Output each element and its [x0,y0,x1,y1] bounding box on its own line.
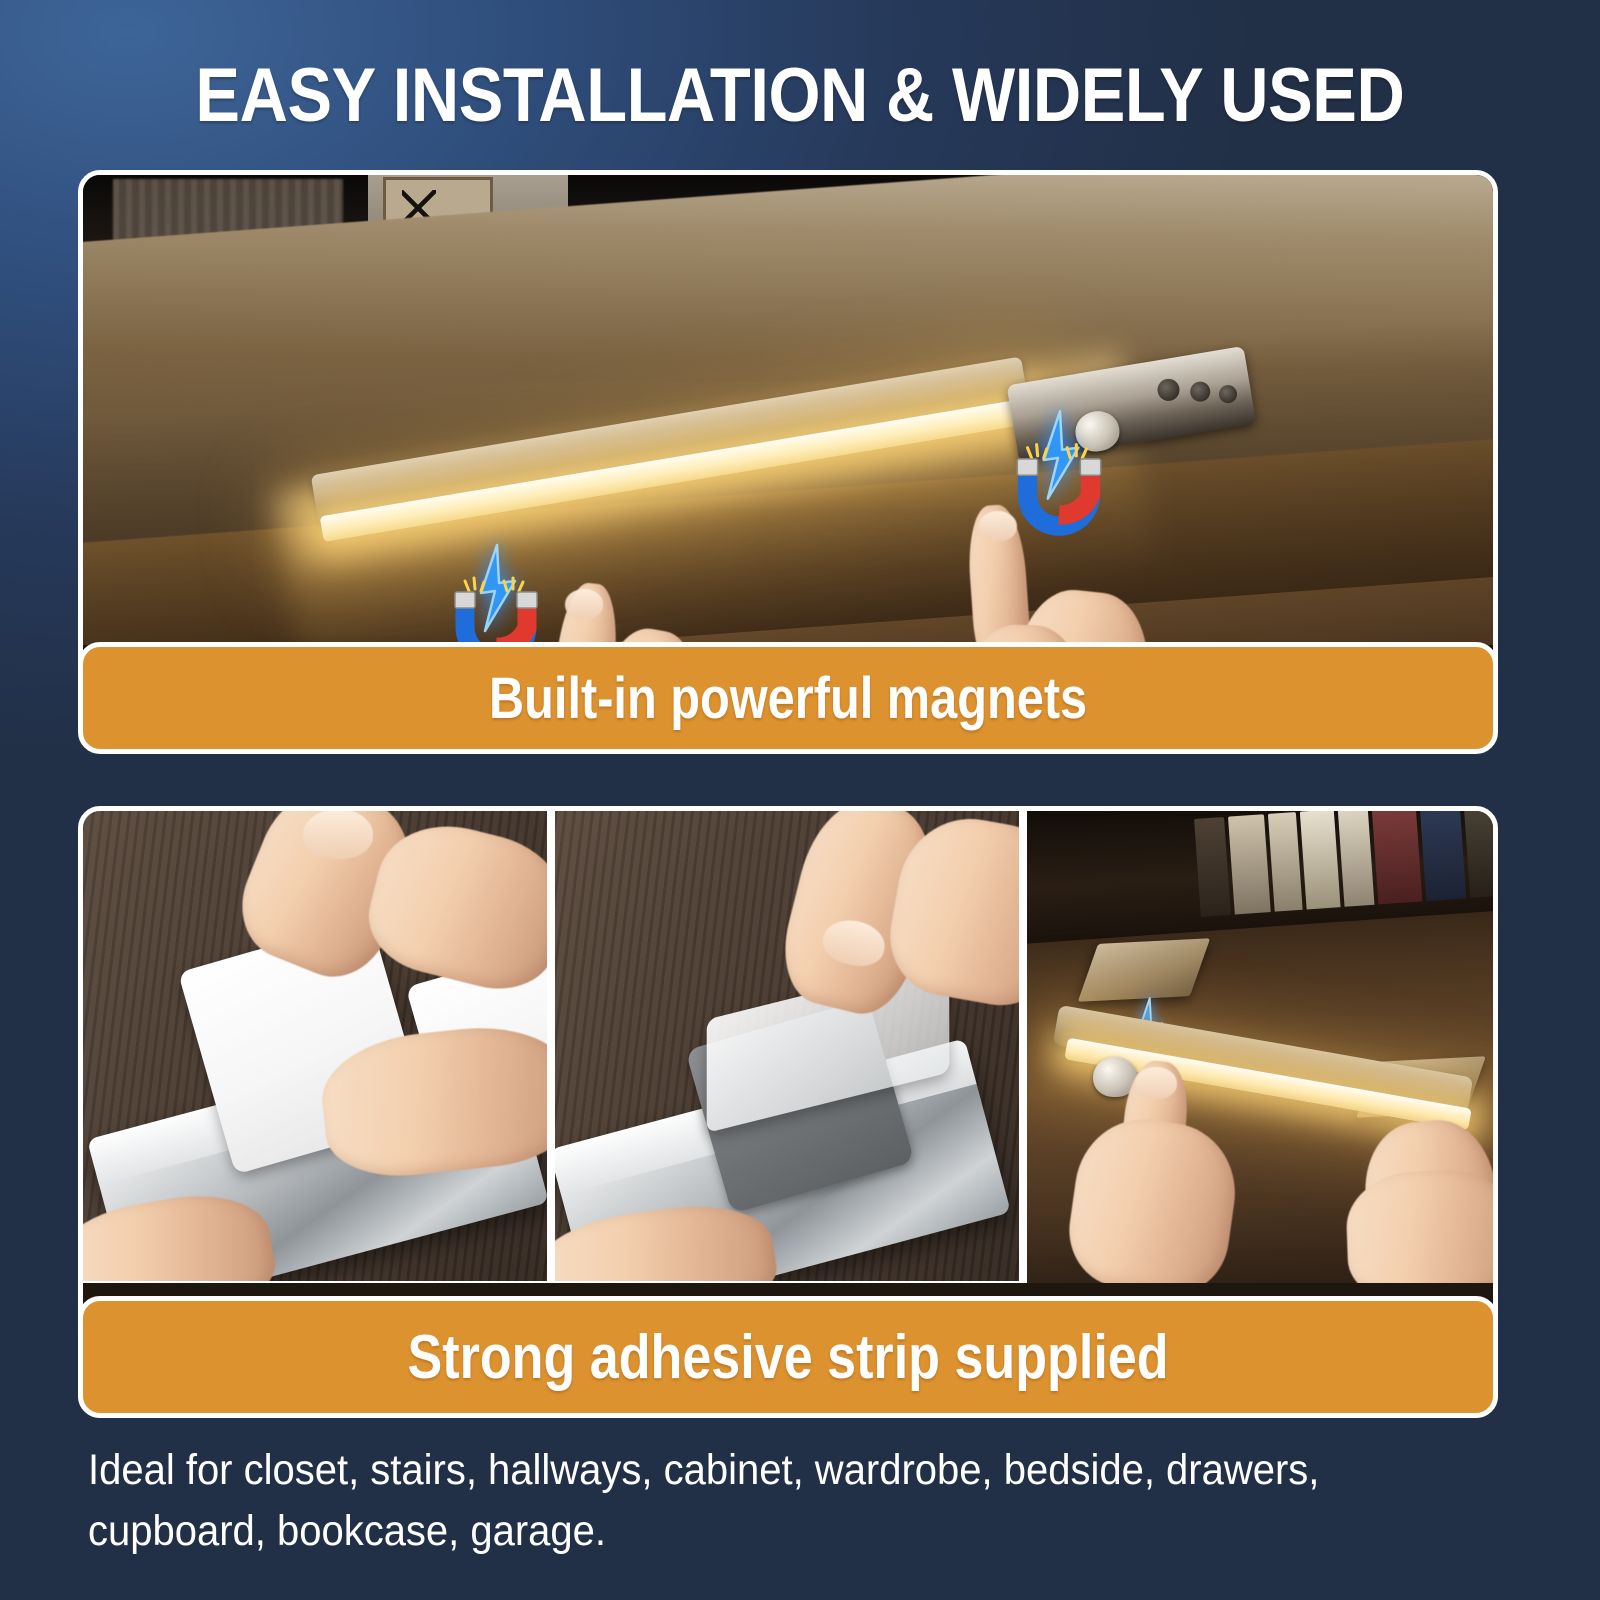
port-icon [1156,377,1181,402]
hand-peeling [785,811,1019,1051]
magnet-icon [1003,403,1115,523]
hand-right [1347,1121,1493,1283]
magnet-icon [441,537,551,645]
hand-left [1063,1061,1293,1283]
usage-line-1: Ideal for closet, stairs, hallways, cabi… [88,1440,1409,1501]
photo-magnetic-mount-shelf [1027,811,1493,1283]
photo-magnet-mounting [83,175,1493,645]
port-icon [1189,380,1212,403]
page-title: EASY INSTALLATION & WIDELY USED [196,52,1405,139]
hand-support [83,1201,313,1281]
feature-banner-adhesive: Strong adhesive strip supplied [78,1296,1498,1418]
feature-banner-label: Built-in powerful magnets [489,665,1087,732]
usage-line-2: cupboard, bookcase, garage. [88,1501,1409,1562]
hand-support [555,1211,815,1281]
page-title-bar: EASY INSTALLATION & WIDELY USED [0,52,1600,139]
feature-banner-magnets: Built-in powerful magnets [78,642,1498,754]
usage-description: Ideal for closet, stairs, hallways, cabi… [88,1440,1409,1562]
photo-row [83,811,1493,1283]
photo-peel-film [555,811,1019,1281]
feature-banner-label: Strong adhesive strip supplied [407,1322,1168,1393]
hand-holding-bar [313,1001,547,1221]
hand-applying-pad [233,811,547,1031]
port-icon [1218,384,1239,405]
hand-right [963,505,1243,645]
photo-apply-adhesive [83,811,547,1281]
